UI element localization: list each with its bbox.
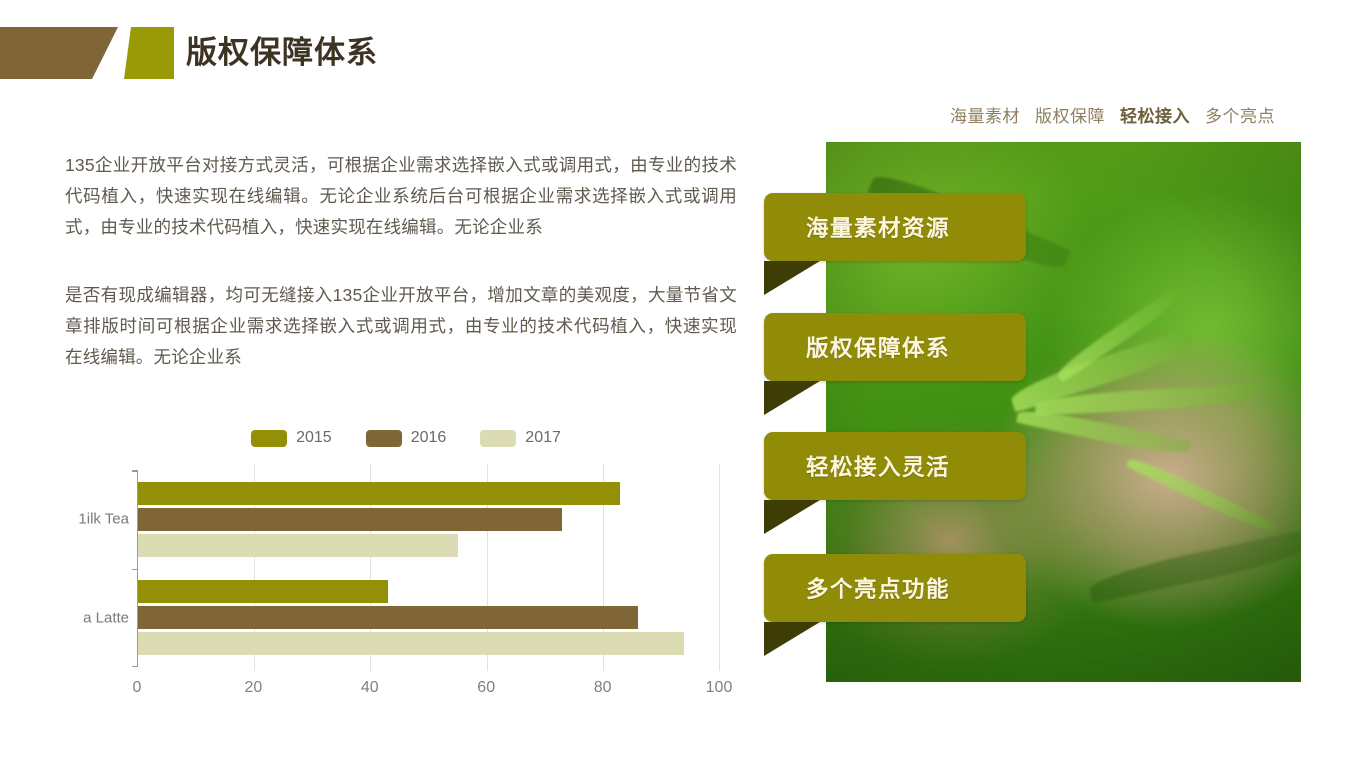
x-tick-label-1: 20 bbox=[244, 679, 262, 697]
chart-axes: 1ilk Teaa Latte bbox=[137, 470, 719, 667]
bar-2016-1[interactable] bbox=[138, 606, 638, 629]
ribbon-label: 版权保障体系 bbox=[806, 313, 950, 381]
nav-item-2[interactable]: 轻松接入 bbox=[1120, 102, 1190, 127]
bar-2015-1[interactable] bbox=[138, 580, 388, 603]
legend-item-2017[interactable]: 2017 bbox=[480, 429, 561, 447]
ribbon-fold-shadow bbox=[764, 622, 820, 656]
x-tick-label-3: 60 bbox=[477, 679, 495, 697]
page-header: 版权保障体系 bbox=[0, 27, 420, 79]
legend-item-2016[interactable]: 2016 bbox=[366, 429, 447, 447]
bar-2017-1[interactable] bbox=[138, 632, 684, 655]
feature-ribbon-2[interactable]: 轻松接入灵活 bbox=[764, 432, 1026, 500]
x-tick-label-2: 40 bbox=[361, 679, 379, 697]
ribbon-fold-shadow bbox=[764, 261, 820, 295]
body-text-column: 135企业开放平台对接方式灵活，可根据企业需求选择嵌入式或调用式，由专业的技术代… bbox=[65, 150, 737, 383]
bar-group-1: a Latte bbox=[138, 569, 719, 668]
feature-ribbon-3[interactable]: 多个亮点功能 bbox=[764, 554, 1026, 622]
ribbon-fold-shadow bbox=[764, 500, 820, 534]
axis-tick bbox=[132, 470, 138, 472]
title-decoration-brown bbox=[0, 27, 118, 79]
chart-legend: 201520162017 bbox=[75, 424, 737, 452]
legend-swatch-icon bbox=[251, 430, 287, 447]
section-nav: 海量素材版权保障轻松接入多个亮点 bbox=[950, 102, 1275, 127]
bar-2015-0[interactable] bbox=[138, 482, 620, 505]
legend-label: 2017 bbox=[525, 429, 561, 447]
category-label-0: 1ilk Tea bbox=[78, 511, 129, 528]
x-tick-label-5: 100 bbox=[706, 679, 733, 697]
x-tick-label-4: 80 bbox=[594, 679, 612, 697]
bar-2017-0[interactable] bbox=[138, 534, 458, 557]
bar-2016-0[interactable] bbox=[138, 508, 562, 531]
gridline bbox=[719, 464, 720, 671]
nav-item-3[interactable]: 多个亮点 bbox=[1205, 102, 1275, 127]
chart-x-axis-labels: 020406080100 bbox=[137, 679, 719, 701]
title-decoration-olive bbox=[124, 27, 174, 79]
nav-item-1[interactable]: 版权保障 bbox=[1035, 102, 1105, 127]
feature-ribbon-0[interactable]: 海量素材资源 bbox=[764, 193, 1026, 261]
axis-tick bbox=[132, 666, 138, 668]
page-title: 版权保障体系 bbox=[186, 25, 378, 81]
bar-group-0: 1ilk Tea bbox=[138, 470, 719, 569]
legend-label: 2016 bbox=[411, 429, 447, 447]
ribbon-label: 海量素材资源 bbox=[806, 193, 950, 261]
chart-plot-area: 1ilk Teaa Latte 020406080100 bbox=[65, 464, 737, 709]
legend-item-2015[interactable]: 2015 bbox=[251, 429, 332, 447]
feature-ribbon-1[interactable]: 版权保障体系 bbox=[764, 313, 1026, 381]
axis-tick bbox=[132, 569, 138, 571]
paragraph-1: 135企业开放平台对接方式灵活，可根据企业需求选择嵌入式或调用式，由专业的技术代… bbox=[65, 150, 737, 243]
legend-label: 2015 bbox=[296, 429, 332, 447]
paragraph-2: 是否有现成编辑器，均可无缝接入135企业开放平台，增加文章的美观度，大量节省文章… bbox=[65, 280, 737, 373]
ribbon-label: 轻松接入灵活 bbox=[806, 432, 950, 500]
nav-item-0[interactable]: 海量素材 bbox=[950, 102, 1020, 127]
bar-chart: 201520162017 1ilk Teaa Latte 02040608010… bbox=[65, 424, 737, 709]
ribbon-fold-shadow bbox=[764, 381, 820, 415]
legend-swatch-icon bbox=[366, 430, 402, 447]
category-label-1: a Latte bbox=[83, 609, 129, 626]
x-tick-label-0: 0 bbox=[133, 679, 142, 697]
legend-swatch-icon bbox=[480, 430, 516, 447]
ribbon-label: 多个亮点功能 bbox=[806, 554, 950, 622]
